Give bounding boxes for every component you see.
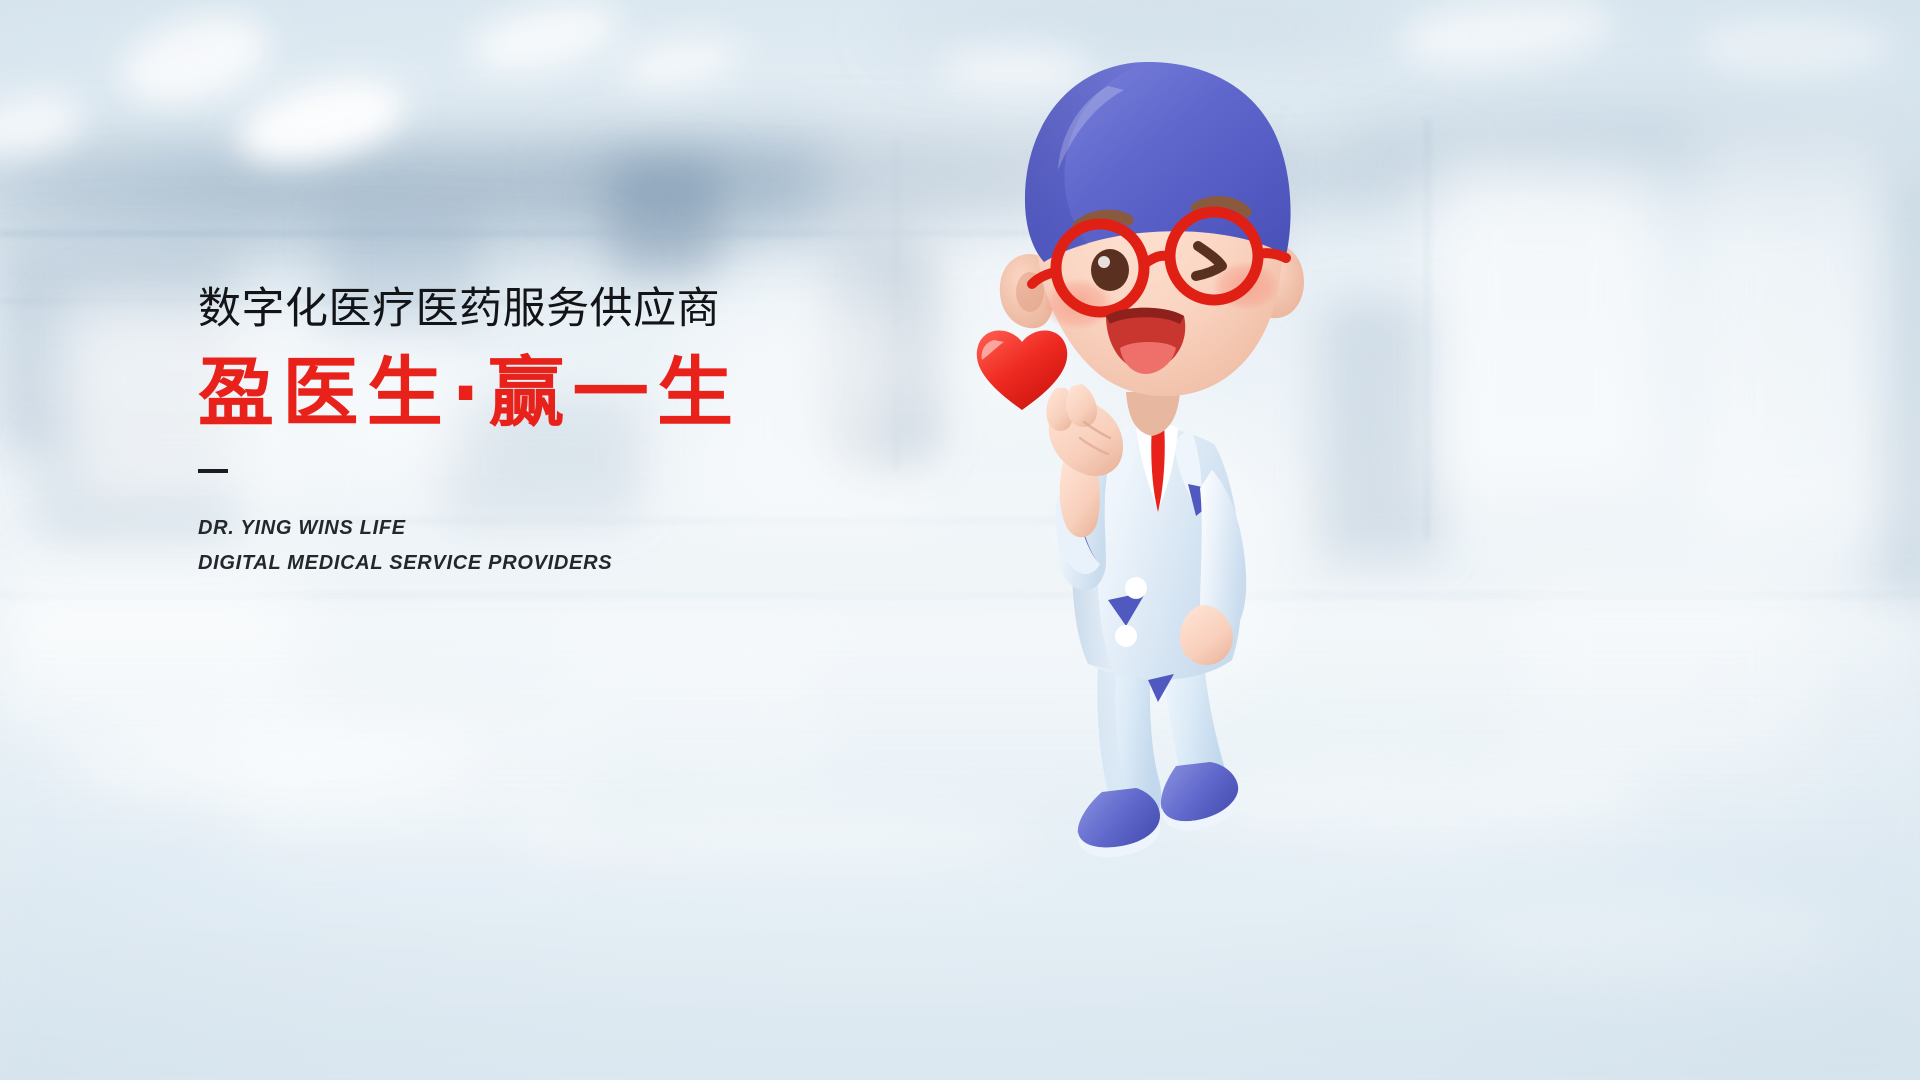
banner-stage: 数字化医疗医药服务供应商 盈医生·赢一生 DR. YING WINS LIFE …: [0, 0, 1920, 1080]
subtitle-english-block: DR. YING WINS LIFE DIGITAL MEDICAL SERVI…: [198, 511, 958, 581]
subtitle-english-line-1: DR. YING WINS LIFE: [198, 511, 958, 546]
divider: [198, 469, 228, 473]
glasses-temple-right: [1258, 253, 1286, 258]
hero-copy-block: 数字化医疗医药服务供应商 盈医生·赢一生 DR. YING WINS LIFE …: [198, 286, 958, 581]
eye-highlight: [1098, 256, 1110, 268]
headline-chinese-main: 盈医生·赢一生: [198, 355, 958, 431]
headline-chinese-subtitle: 数字化医疗医药服务供应商: [198, 286, 958, 333]
eye-open-pupil: [1091, 249, 1129, 291]
cartoon-doctor-character: [960, 40, 1380, 860]
coat-button-upper: [1125, 577, 1147, 599]
subtitle-english-line-2: DIGITAL MEDICAL SERVICE PROVIDERS: [198, 546, 958, 581]
coat-button-lower: [1115, 625, 1137, 647]
